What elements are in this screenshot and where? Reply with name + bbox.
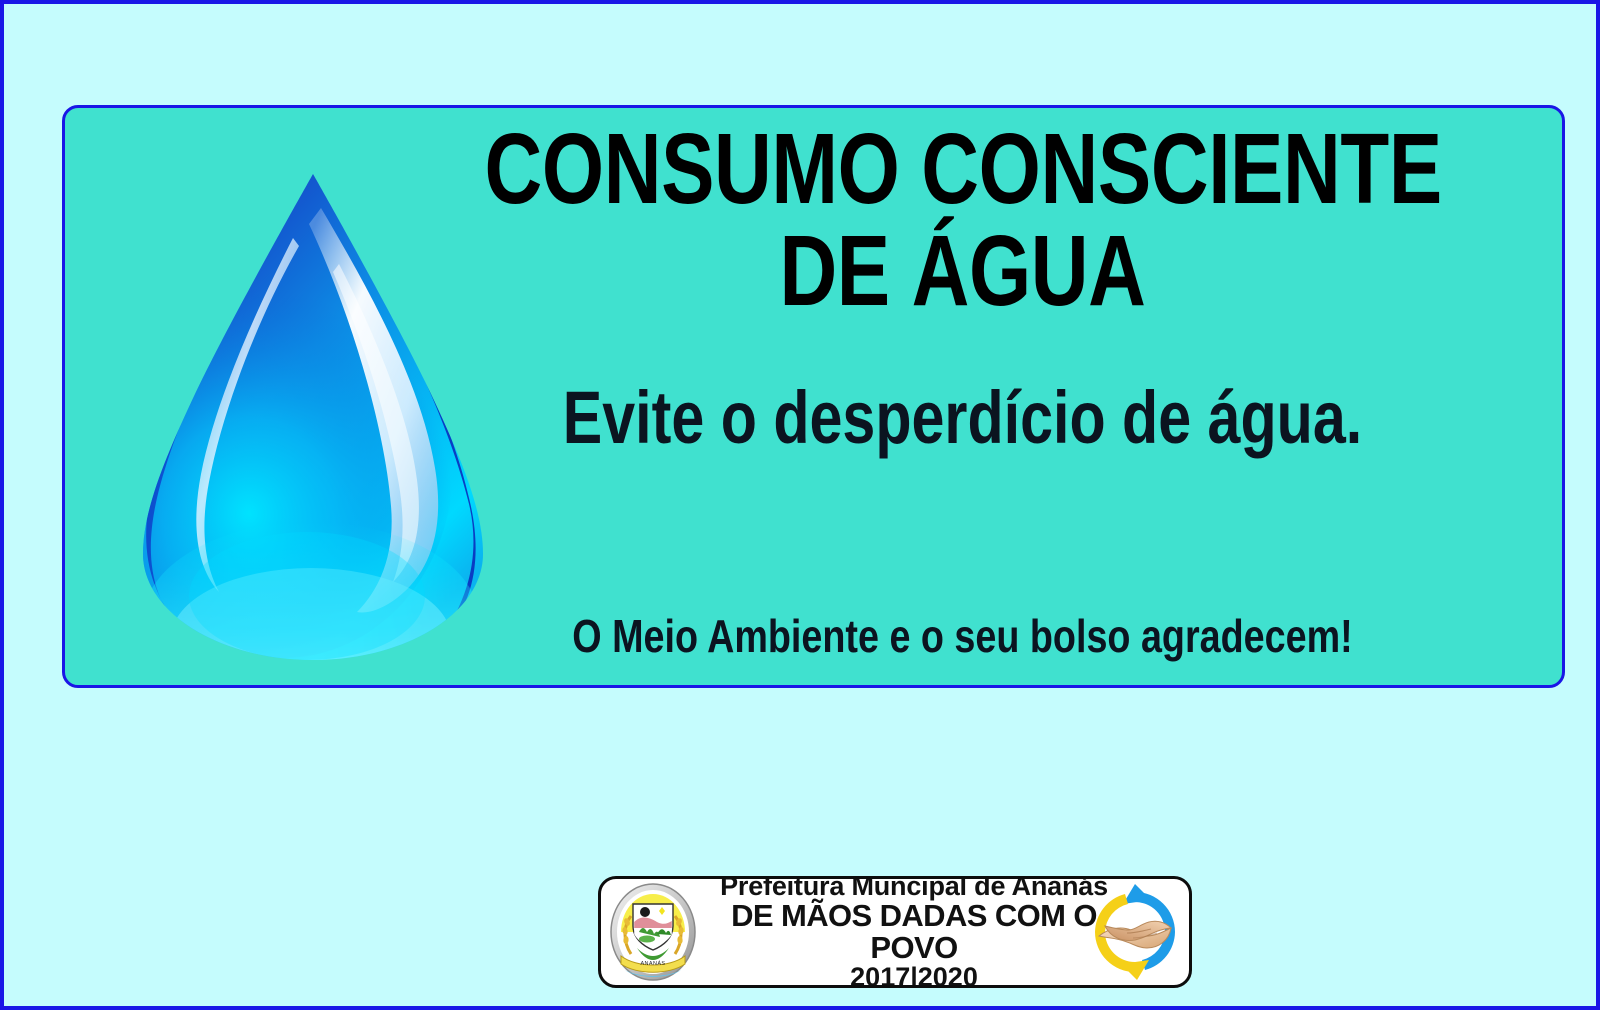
tagline: O Meio Ambiente e o seu bolso agradecem! bbox=[473, 613, 1453, 659]
svg-text:ANANÁS: ANANÁS bbox=[640, 960, 665, 967]
footer-line-prefeitura: Prefeitura Muncipal de Ananás bbox=[701, 876, 1127, 900]
subheadline: Evite o desperdício de água. bbox=[485, 381, 1441, 455]
headline-line-1: CONSUMO CONSCIENTE bbox=[485, 122, 1441, 217]
coat-of-arms-icon: ANANÁS bbox=[607, 882, 699, 982]
footer-line-slogan: DE MÃOS DADAS COM O POVO bbox=[701, 900, 1127, 963]
footer-line-term: 2017|2020 bbox=[701, 964, 1127, 988]
footer-logo-bar: ANANÁS Prefeitura Muncipal de Ananás DE … bbox=[598, 876, 1192, 988]
footer-text-block: Prefeitura Muncipal de Ananás DE MÃOS DA… bbox=[699, 876, 1127, 988]
handshake-cycle-icon bbox=[1083, 880, 1187, 984]
headline-line-2: DE ÁGUA bbox=[485, 224, 1441, 319]
message-block: CONSUMO CONSCIENTE DE ÁGUA Evite o despe… bbox=[365, 108, 1560, 685]
poster-canvas: CONSUMO CONSCIENTE DE ÁGUA Evite o despe… bbox=[0, 0, 1600, 1010]
banner-panel: CONSUMO CONSCIENTE DE ÁGUA Evite o despe… bbox=[62, 105, 1565, 688]
